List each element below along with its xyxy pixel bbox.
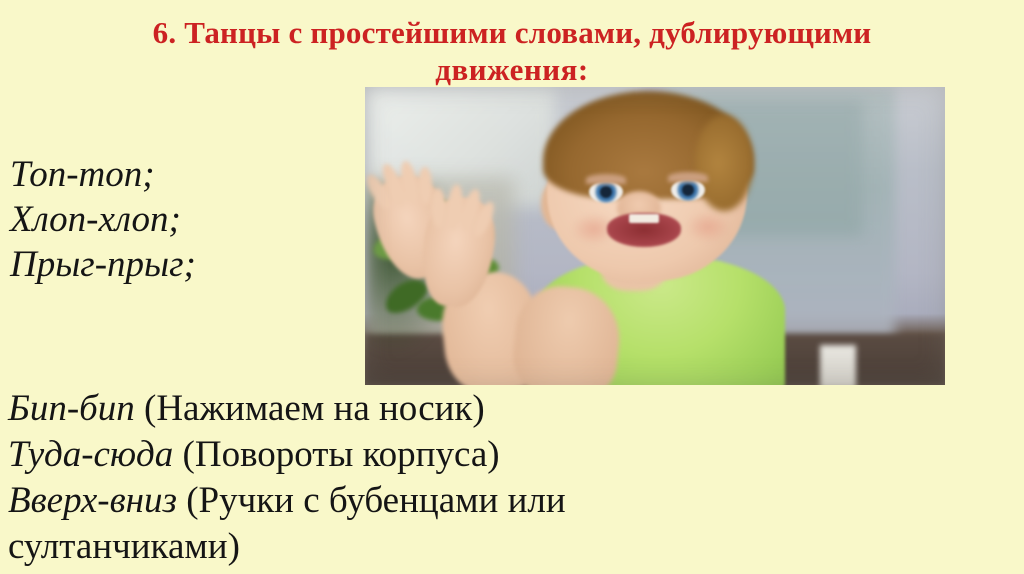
dance-words-list: Топ-топ; Хлоп-хлоп; Прыг-прыг; [10,152,196,287]
slide-canvas: 6. Танцы с простейшими словами, дублирую… [0,0,1024,574]
list-item: Туда-сюда (Повороты корпуса) [8,432,566,478]
photo-white-object [820,345,856,385]
list-item: Прыг-прыг; [10,242,196,287]
action-note: (Повороты корпуса) [173,434,499,475]
photo-baby-cheek [685,211,731,243]
action-phrase: Бип-бип [8,388,135,429]
photo-baby-hair-side [695,115,753,211]
photo-baby-eye-left [589,181,623,203]
action-phrase: Вверх-вниз [8,480,177,521]
title-line-2: движения: [60,51,964,88]
list-item: Топ-топ; [10,152,196,197]
dance-actions-list: Бип-бип (Нажимаем на носик) Туда-сюда (П… [8,386,566,570]
list-item: Бип-бип (Нажимаем на носик) [8,386,566,432]
baby-clapping-photo [365,87,945,385]
title-line-1: 6. Танцы с простейшими словами, дублирую… [60,14,964,51]
action-note: султанчиками) [8,526,240,567]
page-title: 6. Танцы с простейшими словами, дублирую… [60,14,964,88]
photo-baby-eyelid [586,174,626,184]
action-note: (Нажимаем на носик) [135,388,485,429]
list-item: султанчиками) [8,524,566,570]
photo-baby-eye-right [671,179,705,201]
list-item: Хлоп-хлоп; [10,197,196,242]
action-note: (Ручки с бубенцами или [177,480,566,521]
action-phrase: Туда-сюда [8,434,173,475]
photo-baby-teeth [629,214,659,223]
list-item: Вверх-вниз (Ручки с бубенцами или [8,478,566,524]
photo-baby-eyelid [668,172,708,182]
